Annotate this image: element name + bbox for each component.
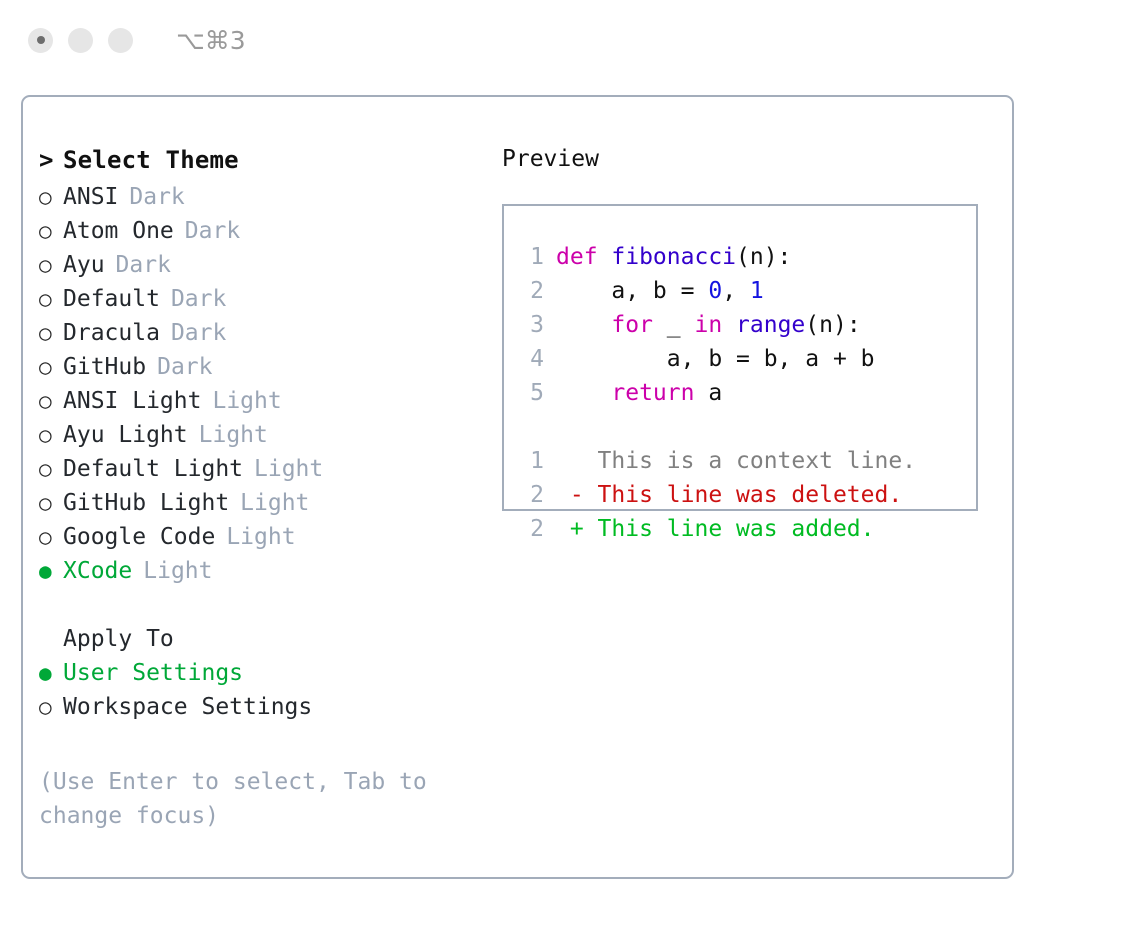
- code-diff-separator: [516, 410, 976, 444]
- diff-line-text: - This line was deleted.: [556, 482, 902, 508]
- theme-option-dracula[interactable]: ○DraculaDark: [39, 320, 479, 354]
- theme-option-github[interactable]: ○GitHubDark: [39, 354, 479, 388]
- theme-option-label: Default: [63, 286, 160, 312]
- theme-option-label: XCode: [63, 558, 132, 584]
- line-number: 1: [516, 444, 544, 478]
- theme-variant-tag: Light: [132, 558, 212, 584]
- code-token: a, b =: [556, 278, 708, 304]
- theme-variant-tag: Light: [229, 490, 309, 516]
- code-token: (n):: [736, 244, 791, 270]
- radio-unselected-icon: ○: [39, 255, 63, 276]
- diff-line-del: 2 - This line was deleted.: [516, 478, 976, 512]
- theme-select-column: > Select Theme ○ANSIDark○Atom OneDark○Ay…: [39, 146, 479, 728]
- line-number: 2: [516, 478, 544, 512]
- code-token: range: [736, 312, 805, 338]
- code-line: 4 a, b = b, a + b: [516, 342, 976, 376]
- title-bar: ⌥⌘3: [0, 0, 1140, 80]
- theme-variant-tag: Dark: [146, 354, 212, 380]
- theme-option-default-light[interactable]: ○Default LightLight: [39, 456, 479, 490]
- radio-unselected-icon: ○: [39, 493, 63, 514]
- radio-selected-icon: ●: [39, 663, 63, 684]
- code-preview: 1def fibonacci(n):2 a, b = 0, 13 for _ i…: [504, 206, 976, 546]
- theme-variant-tag: Light: [188, 422, 268, 448]
- theme-option-label: Ayu Light: [63, 422, 188, 448]
- radio-unselected-icon: ○: [39, 425, 63, 446]
- apply-to-option-user-settings[interactable]: ●User Settings: [39, 660, 479, 694]
- theme-option-xcode[interactable]: ●XCodeLight: [39, 558, 479, 592]
- line-number: 3: [516, 308, 544, 342]
- radio-unselected-icon: ○: [39, 697, 63, 718]
- code-token: return: [611, 380, 694, 406]
- theme-variant-tag: Dark: [118, 184, 184, 210]
- theme-option-ayu[interactable]: ○AyuDark: [39, 252, 479, 286]
- help-hint-text: (Use Enter to select, Tab to change focu…: [39, 765, 449, 833]
- line-number: 4: [516, 342, 544, 376]
- theme-picker-panel: > Select Theme ○ANSIDark○Atom OneDark○Ay…: [21, 95, 1014, 879]
- select-theme-title: Select Theme: [63, 146, 239, 174]
- radio-unselected-icon: ○: [39, 459, 63, 480]
- apply-to-option-list: ●User Settings○Workspace Settings: [39, 660, 479, 728]
- radio-unselected-icon: ○: [39, 391, 63, 412]
- theme-option-label: GitHub: [63, 354, 146, 380]
- line-number: 2: [516, 512, 544, 546]
- radio-unselected-icon: ○: [39, 221, 63, 242]
- code-token: (n):: [805, 312, 860, 338]
- line-number: 2: [516, 274, 544, 308]
- code-token: 0: [708, 278, 722, 304]
- theme-variant-tag: Dark: [160, 286, 226, 312]
- code-token: [556, 380, 611, 406]
- theme-option-label: Google Code: [63, 524, 215, 550]
- preview-title: Preview: [502, 146, 992, 184]
- diff-line-add: 2 + This line was added.: [516, 512, 976, 546]
- apply-to-spacer: [39, 592, 479, 626]
- theme-option-label: GitHub Light: [63, 490, 229, 516]
- theme-variant-tag: Dark: [160, 320, 226, 346]
- code-token: def: [556, 244, 611, 270]
- select-theme-header: > Select Theme: [39, 146, 479, 184]
- code-token: [722, 312, 736, 338]
- line-number: 1: [516, 240, 544, 274]
- apply-to-marker-placeholder: ○: [39, 629, 63, 650]
- theme-option-label: ANSI Light: [63, 388, 201, 414]
- theme-option-list: ○ANSIDark○Atom OneDark○AyuDark○DefaultDa…: [39, 184, 479, 592]
- theme-option-google-code[interactable]: ○Google CodeLight: [39, 524, 479, 558]
- code-token: 1: [750, 278, 764, 304]
- code-line: 1def fibonacci(n):: [516, 240, 976, 274]
- code-token: _: [653, 312, 695, 338]
- caret-icon: >: [39, 148, 63, 172]
- theme-option-label: Default Light: [63, 456, 243, 482]
- window-dot-3[interactable]: [108, 28, 133, 53]
- theme-option-ayu-light[interactable]: ○Ayu LightLight: [39, 422, 479, 456]
- preview-box: 1def fibonacci(n):2 a, b = 0, 13 for _ i…: [502, 204, 978, 511]
- apply-to-label: Apply To: [63, 626, 174, 652]
- theme-variant-tag: Dark: [174, 218, 240, 244]
- radio-unselected-icon: ○: [39, 187, 63, 208]
- theme-variant-tag: Light: [215, 524, 295, 550]
- code-token: fibonacci: [611, 244, 736, 270]
- radio-unselected-icon: ○: [39, 357, 63, 378]
- line-number: 5: [516, 376, 544, 410]
- window-dot-1[interactable]: [28, 28, 53, 53]
- diff-line-ctx: 1 This is a context line.: [516, 444, 976, 478]
- theme-variant-tag: Light: [201, 388, 281, 414]
- radio-unselected-icon: ○: [39, 527, 63, 548]
- apply-to-option-workspace-settings[interactable]: ○Workspace Settings: [39, 694, 479, 728]
- code-token: ,: [722, 278, 750, 304]
- code-line: 3 for _ in range(n):: [516, 308, 976, 342]
- theme-option-label: Atom One: [63, 218, 174, 244]
- apply-to-option-label: Workspace Settings: [63, 694, 312, 720]
- theme-option-label: ANSI: [63, 184, 118, 210]
- diff-line-text: This is a context line.: [556, 448, 916, 474]
- apply-to-header: ○ Apply To: [39, 626, 479, 660]
- theme-option-label: Ayu: [63, 252, 105, 278]
- code-token: [556, 312, 611, 338]
- apply-to-option-label: User Settings: [63, 660, 243, 686]
- theme-option-ansi[interactable]: ○ANSIDark: [39, 184, 479, 218]
- theme-variant-tag: Dark: [105, 252, 171, 278]
- keyboard-shortcut-label: ⌥⌘3: [176, 26, 246, 55]
- radio-unselected-icon: ○: [39, 323, 63, 344]
- code-token: a, b = b, a + b: [556, 346, 875, 372]
- code-token: in: [694, 312, 722, 338]
- theme-option-ansi-light[interactable]: ○ANSI LightLight: [39, 388, 479, 422]
- code-line: 5 return a: [516, 376, 976, 410]
- diff-line-text: + This line was added.: [556, 516, 875, 542]
- theme-option-atom-one[interactable]: ○Atom OneDark: [39, 218, 479, 252]
- radio-selected-icon: ●: [39, 561, 63, 582]
- theme-option-default[interactable]: ○DefaultDark: [39, 286, 479, 320]
- theme-option-label: Dracula: [63, 320, 160, 346]
- code-token: a: [694, 380, 722, 406]
- window-dot-2[interactable]: [68, 28, 93, 53]
- code-line: 2 a, b = 0, 1: [516, 274, 976, 308]
- code-token: for: [611, 312, 653, 338]
- theme-variant-tag: Light: [243, 456, 323, 482]
- theme-option-github-light[interactable]: ○GitHub LightLight: [39, 490, 479, 524]
- preview-column: Preview: [502, 146, 992, 184]
- radio-unselected-icon: ○: [39, 289, 63, 310]
